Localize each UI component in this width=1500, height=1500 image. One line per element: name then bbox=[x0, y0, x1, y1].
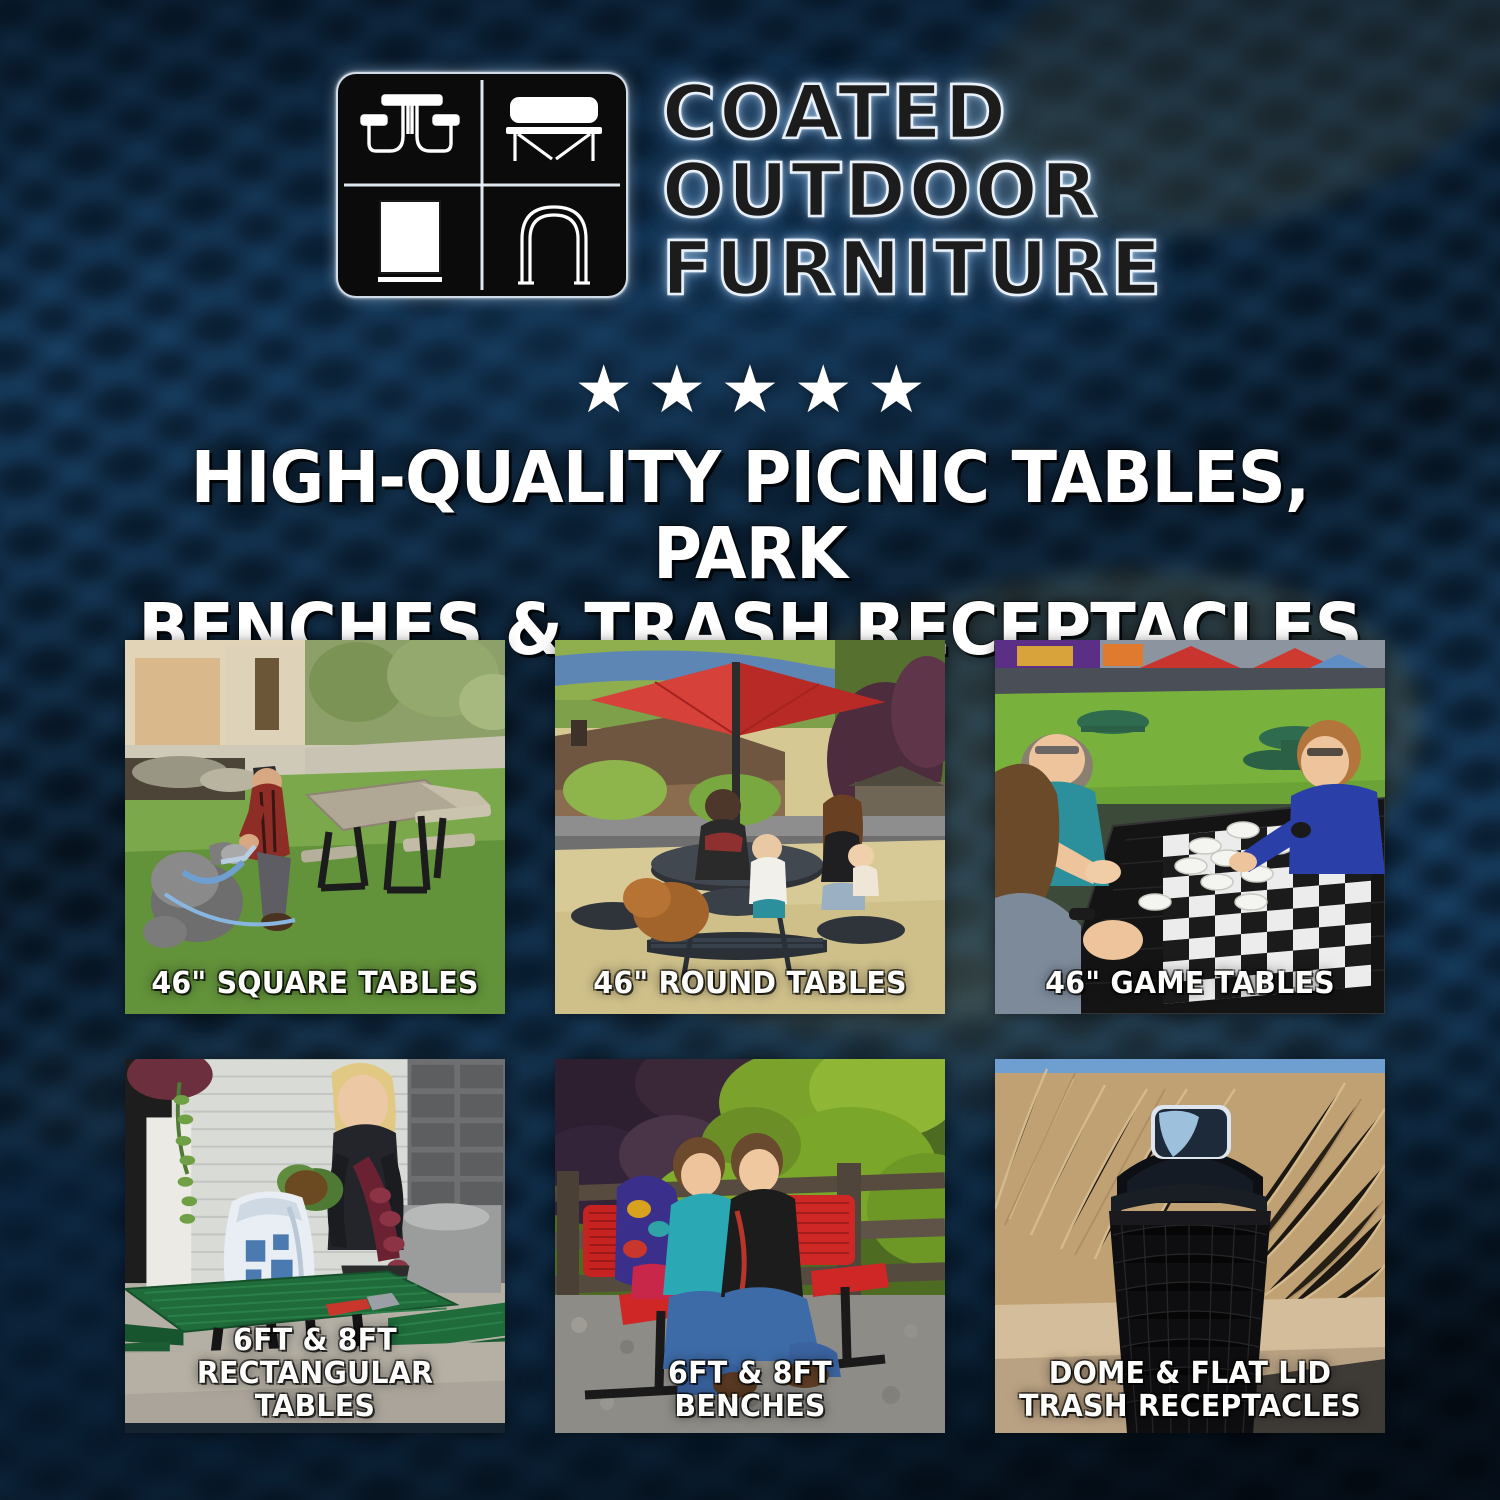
star-icon: ★ bbox=[574, 356, 633, 422]
caption-line: TRASH RECEPTACLES bbox=[1010, 1390, 1369, 1423]
caption-line: 6FT & 8FT bbox=[140, 1324, 490, 1357]
game-tables-photo bbox=[995, 640, 1385, 1014]
star-icon: ★ bbox=[647, 356, 706, 422]
product-tile-rectangular-tables[interactable]: 6FT & 8FT RECTANGULAR TABLES bbox=[125, 1059, 505, 1433]
product-caption: 46" ROUND TABLES bbox=[570, 967, 929, 1000]
star-icon: ★ bbox=[867, 356, 926, 422]
picnic-table-icon bbox=[338, 74, 482, 185]
product-caption: DOME & FLAT LID TRASH RECEPTACLES bbox=[1010, 1357, 1369, 1423]
star-rating: ★ ★ ★ ★ ★ bbox=[0, 356, 1500, 422]
caption-line: 6FT & 8FT bbox=[570, 1357, 929, 1390]
caption-line: 46" GAME TABLES bbox=[1010, 967, 1369, 1000]
product-caption: 46" GAME TABLES bbox=[1010, 967, 1369, 1000]
product-caption: 6FT & 8FT RECTANGULAR TABLES bbox=[140, 1324, 490, 1423]
product-tile-round-tables[interactable]: 46" ROUND TABLES bbox=[555, 640, 945, 1014]
headline-line-1: HIGH-QUALITY PICNIC TABLES, PARK bbox=[101, 440, 1398, 592]
caption-line: BENCHES bbox=[570, 1390, 929, 1423]
product-tile-game-tables[interactable]: 46" GAME TABLES bbox=[995, 640, 1385, 1014]
caption-line: DOME & FLAT LID bbox=[1010, 1357, 1369, 1390]
star-icon: ★ bbox=[794, 356, 853, 422]
product-caption: 6FT & 8FT BENCHES bbox=[570, 1357, 929, 1423]
page-title: HIGH-QUALITY PICNIC TABLES, PARK BENCHES… bbox=[101, 440, 1398, 668]
brand-logo: COATED OUTDOOR FURNITURE bbox=[0, 72, 1500, 308]
product-tile-trash-receptacles[interactable]: DOME & FLAT LID TRASH RECEPTACLES bbox=[995, 1059, 1385, 1433]
logo-mark bbox=[336, 72, 628, 298]
caption-line: 46" SQUARE TABLES bbox=[140, 967, 490, 1000]
product-tile-square-tables[interactable]: 46" SQUARE TABLES bbox=[125, 640, 505, 1014]
brand-wordmark: COATED OUTDOOR FURNITURE bbox=[662, 72, 1164, 308]
bike-rack-icon bbox=[482, 185, 626, 296]
product-grid: 46" SQUARE TABLES bbox=[125, 640, 1385, 1433]
brand-line-1: COATED bbox=[662, 74, 1164, 152]
product-caption: 46" SQUARE TABLES bbox=[140, 967, 490, 1000]
page-content: COATED OUTDOOR FURNITURE ★ ★ ★ ★ ★ HIGH-… bbox=[0, 0, 1500, 1500]
bench-icon bbox=[482, 74, 626, 185]
product-tile-benches[interactable]: 6FT & 8FT BENCHES bbox=[555, 1059, 945, 1433]
brand-line-2: OUTDOOR bbox=[662, 152, 1164, 230]
caption-line: RECTANGULAR TABLES bbox=[140, 1357, 490, 1423]
trash-receptacle-icon bbox=[338, 185, 482, 296]
caption-line: 46" ROUND TABLES bbox=[570, 967, 929, 1000]
square-tables-photo bbox=[125, 640, 505, 1014]
star-icon: ★ bbox=[720, 356, 779, 422]
round-tables-photo bbox=[555, 640, 945, 1014]
brand-line-3: FURNITURE bbox=[662, 230, 1164, 308]
